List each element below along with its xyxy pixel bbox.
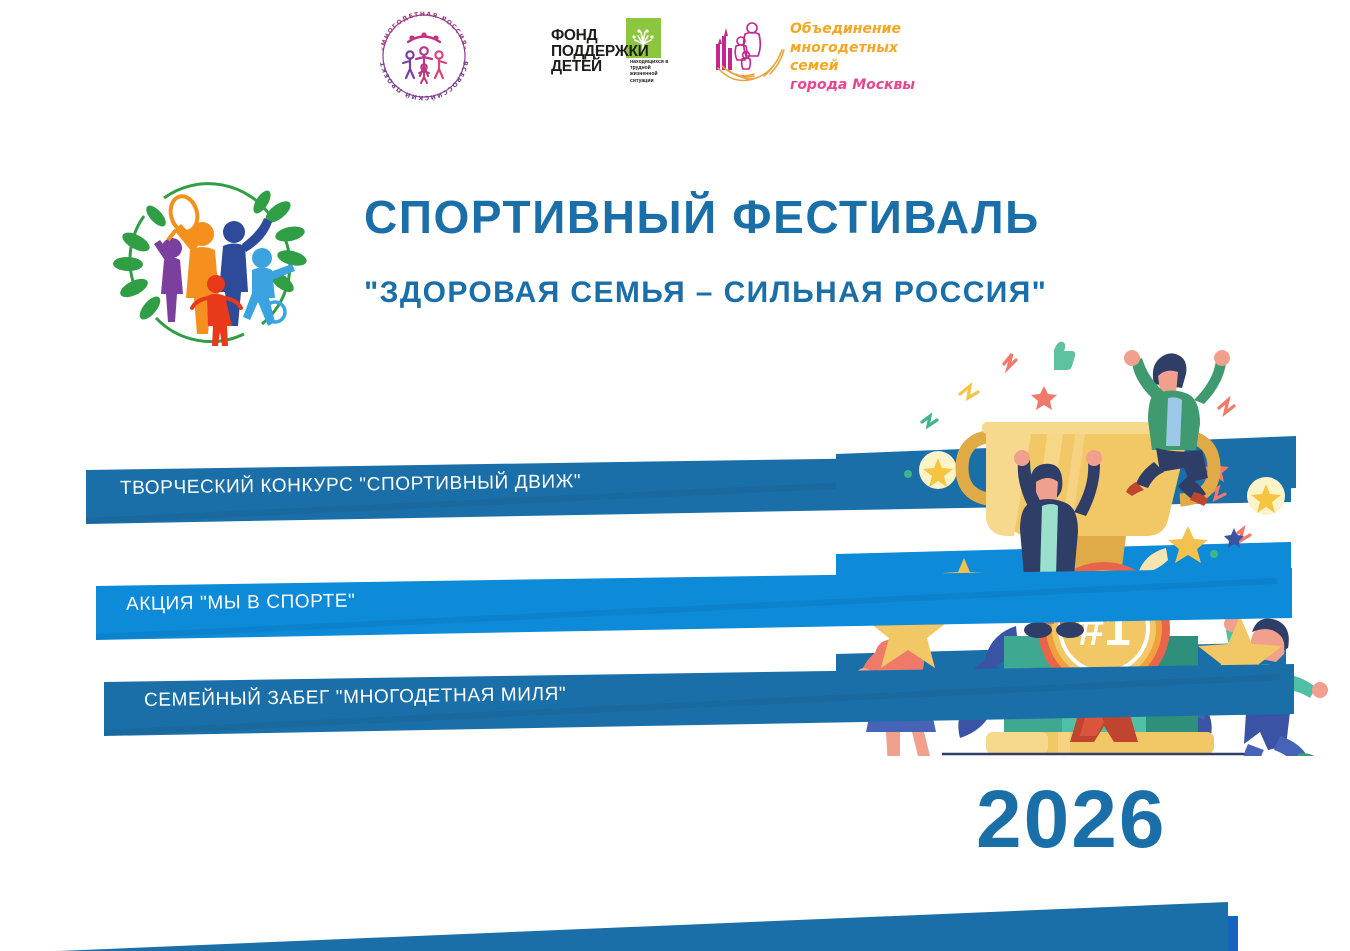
logo-mnogodetnaya-rossiya: «МНОГОДЕТНАЯ РОССИЯ» ВСЕРОССИЙСКИЙ ПРОЕК…	[372, 6, 488, 102]
oms-wordmark: Объединение многодетных семей города Мос…	[790, 20, 917, 94]
oms-line2: многодетных семей	[790, 39, 917, 76]
fpd-line1: ФОНД	[551, 28, 629, 44]
fpd-line2: ПОДДЕРЖКИ	[551, 44, 629, 60]
oms-line3: города Москвы	[790, 76, 917, 95]
page-subtitle: "ЗДОРОВАЯ СЕМЬЯ – СИЛЬНАЯ РОССИЯ"	[364, 276, 1047, 310]
festival-emblem	[112, 172, 308, 348]
svg-text:«МНОГОДЕТНАЯ РОССИЯ»: «МНОГОДЕТНАЯ РОССИЯ»	[379, 11, 468, 52]
partner-logo-row: «МНОГОДЕТНАЯ РОССИЯ» ВСЕРОССИЙСКИЙ ПРОЕК…	[0, 0, 1350, 105]
oms-line1: Объединение	[790, 20, 917, 39]
logo-obedinenie-semey: Объединение многодетных семей города Мос…	[712, 14, 917, 86]
page-title: СПОРТИВНЫЙ ФЕСТИВАЛЬ	[364, 190, 1040, 244]
poster-canvas: «МНОГОДЕТНАЯ РОССИЯ» ВСЕРОССИЙСКИЙ ПРОЕК…	[0, 0, 1350, 951]
logo-fond-podderzhki-detey: ФОНД ПОДДЕРЖКИ ДЕТЕЙ находящихся в трудн…	[551, 18, 661, 94]
event-ribbon-action[interactable]: АКЦИЯ "МЫ В СПОРТЕ"	[96, 568, 1292, 640]
event-ribbon-label-2: АКЦИЯ "МЫ В СПОРТЕ"	[126, 591, 356, 616]
event-ribbon-family-run[interactable]: СЕМЕЙНЫЙ ЗАБЕГ "МНОГОДЕТНАЯ МИЛЯ"	[104, 664, 1294, 736]
fpd-line3: ДЕТЕЙ	[551, 59, 629, 75]
bottom-decorative-wedge	[0, 886, 1350, 951]
fpd-subtext: находящихся в трудной жизненной ситуации	[630, 59, 674, 84]
fpd-wordmark: ФОНД ПОДДЕРЖКИ ДЕТЕЙ	[551, 28, 629, 75]
year-label: 2026	[976, 773, 1166, 867]
